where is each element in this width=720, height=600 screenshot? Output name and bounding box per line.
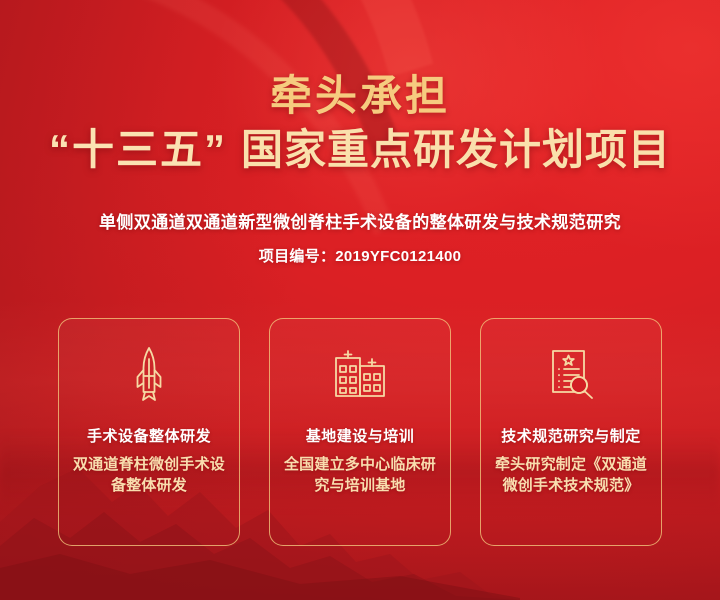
- card-technical-standard[interactable]: 技术规范研究与制定 牵头研究制定《双通道微创手术技术规范》: [480, 318, 662, 546]
- headline-program-name: 国家重点研发计划项目: [241, 126, 671, 173]
- headline-quoted-plan: “十三五”: [49, 126, 227, 173]
- project-subtitle: 单侧双通道双通道新型微创脊柱手术设备的整体研发与技术规范研究: [0, 208, 720, 233]
- card-icon-slot: [270, 343, 450, 405]
- headline-line-1: 牵头承担: [0, 74, 720, 118]
- card-icon-slot: [481, 343, 661, 405]
- card-list: 手术设备整体研发 双通道脊柱微创手术设备整体研发: [58, 318, 662, 546]
- card-title: 技术规范研究与制定: [481, 425, 661, 446]
- poster-root: 牵头承担 “十三五”国家重点研发计划项目 单侧双通道双通道新型微创脊柱手术设备的…: [0, 0, 720, 600]
- headline-block: 牵头承担 “十三五”国家重点研发计划项目: [0, 74, 720, 173]
- card-base-construction-training[interactable]: 基地建设与培训 全国建立多中心临床研究与培训基地: [269, 318, 451, 546]
- headline-line-2: “十三五”国家重点研发计划项目: [0, 126, 720, 173]
- project-number: 项目编号：2019YFC0121400: [0, 245, 720, 266]
- document-magnifier-icon: [546, 348, 596, 400]
- card-icon-slot: [59, 343, 239, 405]
- card-body: 双通道脊柱微创手术设备整体研发: [59, 455, 239, 496]
- card-body: 牵头研究制定《双通道微创手术技术规范》: [481, 455, 661, 496]
- rocket-icon: [132, 346, 166, 402]
- hospital-building-icon: [333, 350, 387, 398]
- card-body: 全国建立多中心临床研究与培训基地: [270, 455, 450, 496]
- card-title: 基地建设与培训: [270, 425, 450, 446]
- card-title: 手术设备整体研发: [59, 425, 239, 446]
- card-equipment-rnd[interactable]: 手术设备整体研发 双通道脊柱微创手术设备整体研发: [58, 318, 240, 546]
